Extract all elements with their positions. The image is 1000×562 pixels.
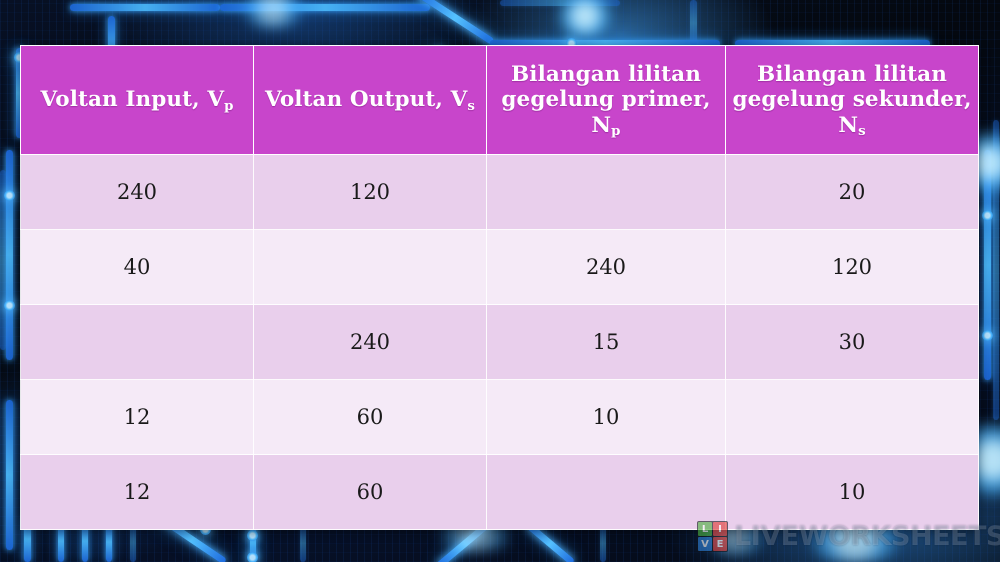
circuit-node: [4, 300, 15, 311]
table-cell[interactable]: 240: [487, 230, 726, 305]
table-cell[interactable]: [254, 230, 487, 305]
table-cell[interactable]: 40: [21, 230, 254, 305]
column-header-text: Voltan Input, V: [40, 87, 224, 112]
table-cell[interactable]: 10: [487, 380, 726, 455]
table-row: 12 60 10: [21, 380, 979, 455]
column-header-subscript: p: [224, 98, 233, 114]
column-header-voltan-output: Voltan Output, Vs: [254, 46, 487, 155]
table-cell[interactable]: 15: [487, 305, 726, 380]
transformer-table-container: Voltan Input, Vp Voltan Output, Vs Bilan…: [20, 45, 978, 512]
table-row: 240 15 30: [21, 305, 979, 380]
circuit-node: [4, 190, 15, 201]
circuit-trace: [6, 150, 13, 360]
table-cell[interactable]: 30: [726, 305, 979, 380]
table-cell[interactable]: [487, 455, 726, 530]
table-cell[interactable]: 240: [21, 155, 254, 230]
column-header-text: Voltan Output, V: [265, 87, 467, 112]
table-cell[interactable]: 120: [726, 230, 979, 305]
table-cell[interactable]: 60: [254, 455, 487, 530]
column-header-lilitan-sekunder: Bilangan lilitan gegelung sekunder, Ns: [726, 46, 979, 155]
column-header-subscript: s: [467, 98, 475, 114]
circuit-node: [247, 552, 258, 562]
table-cell[interactable]: [21, 305, 254, 380]
column-header-voltan-input: Voltan Input, Vp: [21, 46, 254, 155]
column-header-subscript: p: [611, 123, 620, 139]
table-cell[interactable]: [487, 155, 726, 230]
transformer-data-table: Voltan Input, Vp Voltan Output, Vs Bilan…: [20, 45, 979, 530]
table-cell[interactable]: 20: [726, 155, 979, 230]
circuit-node: [247, 530, 258, 541]
table-row: 240 120 20: [21, 155, 979, 230]
table-cell[interactable]: 60: [254, 380, 487, 455]
circuit-node: [982, 210, 993, 221]
screenshot-canvas: Voltan Input, Vp Voltan Output, Vs Bilan…: [0, 0, 1000, 562]
table-cell[interactable]: 12: [21, 380, 254, 455]
circuit-trace: [690, 0, 697, 46]
circuit-trace: [70, 4, 220, 11]
table-cell[interactable]: [726, 380, 979, 455]
table-cell[interactable]: 10: [726, 455, 979, 530]
column-header-subscript: s: [858, 123, 866, 139]
circuit-node: [982, 330, 993, 341]
table-cell[interactable]: 120: [254, 155, 487, 230]
column-header-text: Bilangan lilitan gegelung primer, N: [501, 62, 710, 137]
circuit-trace: [6, 400, 13, 550]
column-header-text: Bilangan lilitan gegelung sekunder, N: [732, 62, 971, 137]
table-row: 40 240 120: [21, 230, 979, 305]
table-cell[interactable]: 12: [21, 455, 254, 530]
table-header-row: Voltan Input, Vp Voltan Output, Vs Bilan…: [21, 46, 979, 155]
table-cell[interactable]: 240: [254, 305, 487, 380]
table-row: 12 60 10: [21, 455, 979, 530]
column-header-lilitan-primer: Bilangan lilitan gegelung primer, Np: [487, 46, 726, 155]
